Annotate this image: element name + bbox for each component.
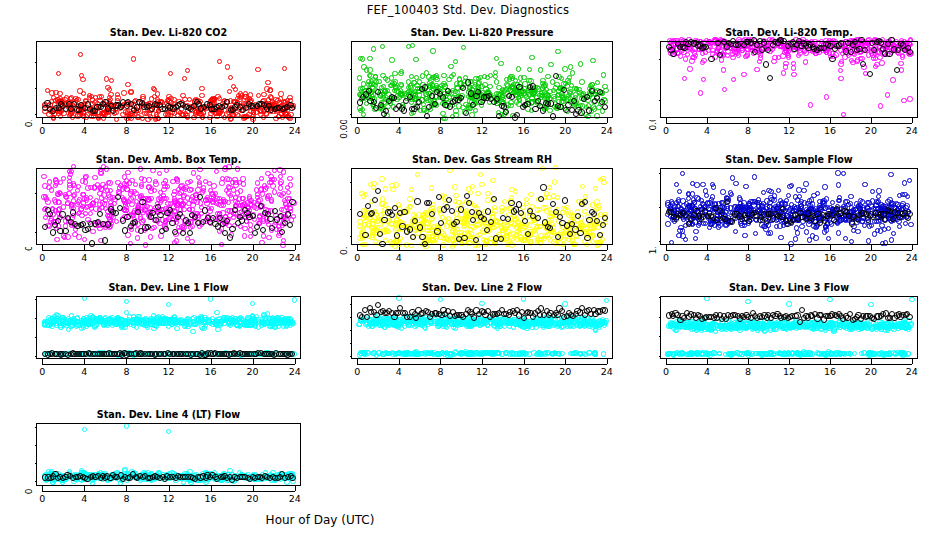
plot-border bbox=[660, 296, 918, 359]
plot-clip-mask bbox=[317, 154, 350, 247]
plot-clip-mask bbox=[2, 154, 35, 247]
plot-clip-mask bbox=[920, 154, 936, 247]
plot-clip-mask bbox=[626, 27, 659, 120]
plot-clip-mask bbox=[920, 282, 936, 361]
x-tick-label: 20 bbox=[238, 493, 268, 504]
plot-border bbox=[351, 168, 613, 245]
plot-border bbox=[36, 296, 301, 359]
plot-clip-mask bbox=[626, 282, 659, 361]
x-tick-label: 0 bbox=[27, 493, 57, 504]
plot-clip-mask bbox=[2, 282, 35, 361]
x-tick-label: 24 bbox=[280, 493, 310, 504]
plot-clip-mask bbox=[2, 27, 35, 120]
plot-border bbox=[351, 41, 613, 118]
plot-clip-mask bbox=[626, 154, 659, 247]
x-tick-label: 16 bbox=[196, 493, 226, 504]
panel-title: Stan. Dev. Line 4 (LT) Flow bbox=[36, 409, 301, 420]
figure-xaxis-title: Hour of Day (UTC) bbox=[0, 513, 640, 527]
plot-clip-mask bbox=[920, 27, 936, 120]
x-tick-label: 8 bbox=[111, 493, 141, 504]
plot-clip-mask bbox=[317, 27, 350, 120]
plot-border bbox=[36, 423, 301, 486]
plot-clip-mask bbox=[2, 409, 35, 488]
plot-clip-mask bbox=[303, 409, 319, 488]
plot-border bbox=[36, 168, 301, 245]
x-axis-line bbox=[42, 491, 294, 492]
x-tick-mark bbox=[295, 486, 296, 491]
plot-border bbox=[660, 41, 918, 118]
plot-border bbox=[36, 41, 301, 118]
x-tick-label: 12 bbox=[154, 493, 184, 504]
x-tick-label: 4 bbox=[69, 493, 99, 504]
plot-border bbox=[660, 168, 918, 245]
plot-clip-mask bbox=[317, 282, 350, 361]
plot-border bbox=[351, 296, 613, 359]
